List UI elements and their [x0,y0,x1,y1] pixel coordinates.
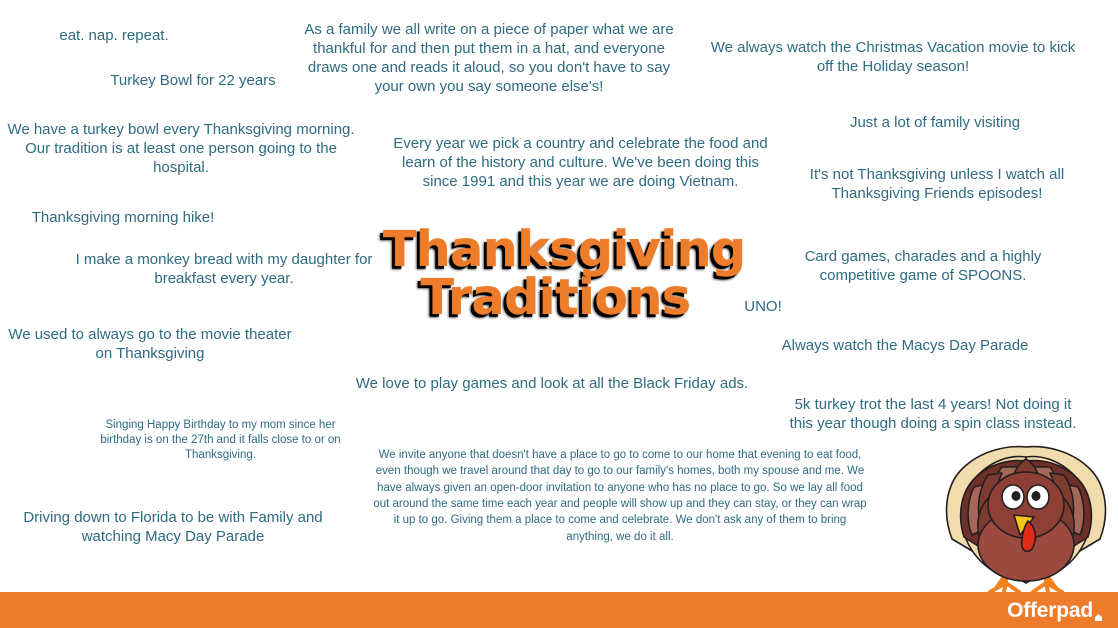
quote-driving-to-florida: Driving down to Florida to be with Famil… [8,509,338,547]
quote-eat-nap-repeat: eat. nap. repeat. [14,27,214,46]
quote-card-games-spoons: Card games, charades and a highly compet… [790,248,1056,286]
offerpad-house-dot-icon [1095,614,1102,621]
quote-family-write-paper: As a family we all write on a piece of p… [303,21,675,97]
footer-bar [0,592,1118,628]
quote-morning-hike: Thanksgiving morning hike! [8,209,238,228]
quote-black-friday-ads: We love to play games and look at all th… [353,375,751,394]
quote-monkey-bread: I make a monkey bread with my daughter f… [63,251,385,289]
offerpad-logo: Offerpad [1007,599,1102,623]
quote-turkey-bowl-22: Turkey Bowl for 22 years [48,72,338,91]
quote-movie-theater: We used to always go to the movie theate… [0,326,300,364]
quote-family-visiting: Just a lot of family visiting [790,114,1080,133]
title-line-1: Thanksgiving [383,226,728,274]
quote-christmas-vacation: We always watch the Christmas Vacation m… [706,39,1080,77]
title-line-2: Traditions [383,274,728,322]
quote-5k-turkey-trot: 5k turkey trot the last 4 years! Not doi… [782,396,1084,434]
quote-uno: UNO! [728,298,798,317]
quote-macys-day-parade: Always watch the Macys Day Parade [772,337,1038,356]
offerpad-wordmark: Offerpad [1007,599,1093,623]
quote-singing-happy-birthday: Singing Happy Birthday to my mom since h… [88,418,353,463]
quote-friends-episodes: It's not Thanksgiving unless I watch all… [792,166,1082,204]
thanksgiving-traditions-slide: eat. nap. repeat. Turkey Bowl for 22 yea… [0,0,1118,628]
page-title: Thanksgiving Traditions [383,226,728,322]
quote-pick-a-country: Every year we pick a country and celebra… [385,135,776,192]
turkey-illustration [940,443,1112,603]
quote-invite-anyone: We invite anyone that doesn't have a pla… [371,447,869,545]
quote-turkey-bowl-hospital: We have a turkey bowl every Thanksgiving… [5,121,357,178]
